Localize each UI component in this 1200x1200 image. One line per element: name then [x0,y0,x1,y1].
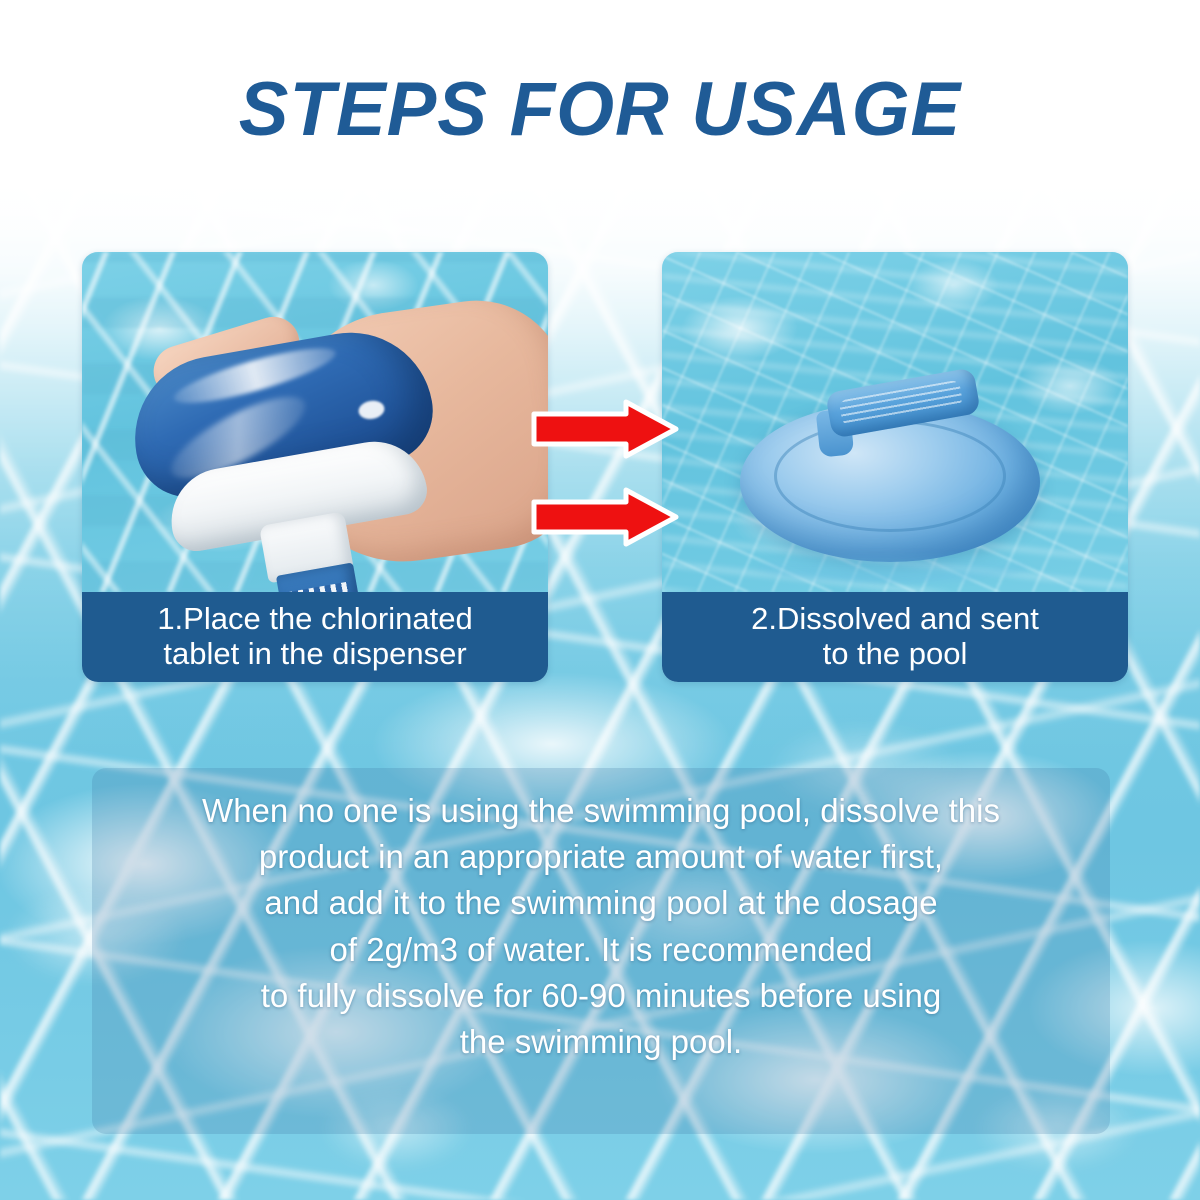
note-line-2: product in an appropriate amount of wate… [92,834,1110,880]
note-line-4: of 2g/m3 of water. It is recommended [92,927,1110,973]
page-title: STEPS FOR USAGE [12,72,1188,148]
step-2-caption-line-2: to the pool [823,636,968,671]
chlorine-dispenser-floating [740,374,1040,589]
step-card-1: 1.Place the chlorinated tablet in the di… [82,252,548,682]
note-line-3: and add it to the swimming pool at the d… [92,880,1110,926]
usage-note-text: When no one is using the swimming pool, … [92,788,1110,1065]
note-line-6: the swimming pool. [92,1019,1110,1065]
step-1-caption-line-1: 1.Place the chlorinated [157,601,472,636]
step-1-caption: 1.Place the chlorinated tablet in the di… [82,592,548,682]
step-card-2: 2.Dissolved and sent to the pool [662,252,1128,682]
step-2-caption-line-1: 2.Dissolved and sent [751,601,1039,636]
dispenser-lid-rim [774,420,1006,532]
step-1-photo [82,252,548,592]
arrow-right-top-icon [530,398,680,465]
step-2-caption: 2.Dissolved and sent to the pool [662,592,1128,682]
dispenser-waterline [756,552,1028,582]
page-header: STEPS FOR USAGE [0,72,1200,148]
arrow-right-bottom-icon [530,486,680,553]
step-2-photo [662,252,1128,592]
note-line-1: When no one is using the swimming pool, … [92,788,1110,834]
step-1-caption-line-2: tablet in the dispenser [163,636,466,671]
note-line-5: to fully dissolve for 60-90 minutes befo… [92,973,1110,1019]
